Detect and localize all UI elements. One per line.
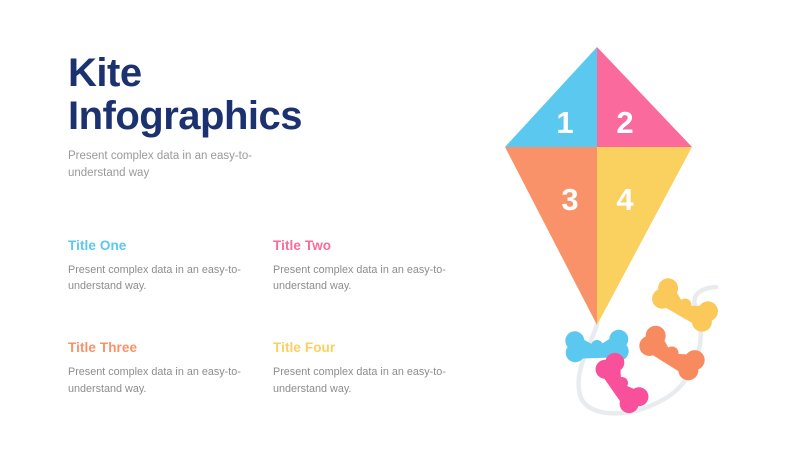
item-block-three[interactable]: Title Three Present complex data in an e… <box>68 340 248 396</box>
item-block-four[interactable]: Title Four Present complex data in an ea… <box>273 340 453 396</box>
item-block-two[interactable]: Title Two Present complex data in an eas… <box>273 238 453 294</box>
item-title-four: Title Four <box>273 340 453 355</box>
item-description-two: Present complex data in an easy-to-under… <box>273 262 453 294</box>
item-title-three: Title Three <box>68 340 248 355</box>
kite-quadrant-two[interactable] <box>597 47 692 147</box>
kite-quadrant-one[interactable] <box>505 47 597 147</box>
item-description-three: Present complex data in an easy-to-under… <box>68 364 248 396</box>
slide-canvas: Kite Infographics Present complex data i… <box>0 0 800 450</box>
item-description-one: Present complex data in an easy-to-under… <box>68 262 248 294</box>
kite-illustration: 1 2 3 4 <box>470 20 790 430</box>
items-grid: Title One Present complex data in an eas… <box>68 238 488 397</box>
page-title: Kite Infographics <box>68 52 318 138</box>
kite-number-three: 3 <box>561 182 578 217</box>
page-subtitle: Present complex data in an easy-to-under… <box>68 148 293 181</box>
kite-quadrant-three[interactable] <box>505 147 597 325</box>
item-title-one: Title One <box>68 238 248 253</box>
item-description-four: Present complex data in an easy-to-under… <box>273 364 453 396</box>
ribbon-orange-icon <box>636 322 709 384</box>
ribbon-yellow-icon <box>648 275 721 336</box>
item-block-one[interactable]: Title One Present complex data in an eas… <box>68 238 248 294</box>
kite-number-two: 2 <box>616 105 633 140</box>
kite-number-four: 4 <box>616 182 634 217</box>
item-title-two: Title Two <box>273 238 453 253</box>
kite-number-one: 1 <box>556 105 573 140</box>
header-block: Kite Infographics Present complex data i… <box>68 52 448 182</box>
